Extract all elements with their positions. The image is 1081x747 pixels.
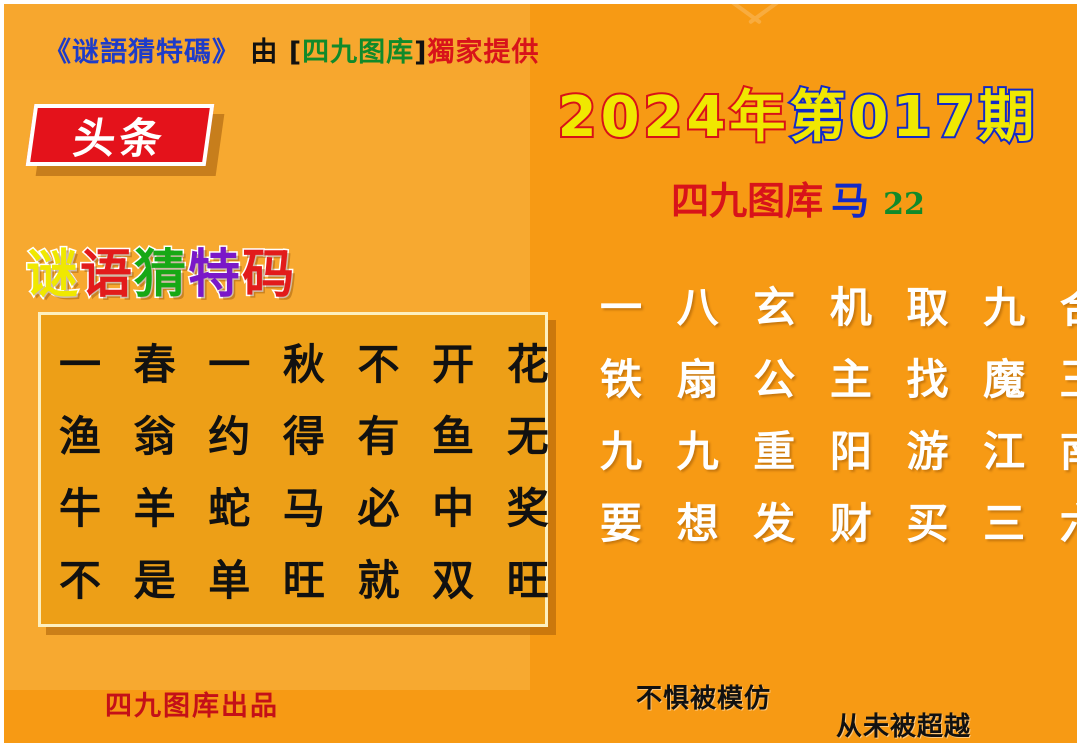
headline-badge: 头条 (30, 104, 230, 180)
background-top-right-band (530, 0, 1081, 78)
footer-right-text: 从未被超越 (836, 706, 971, 743)
issue-number: 第017期 (789, 85, 1038, 150)
watermark-icon (721, 0, 791, 28)
poster-canvas: 《谜語猜特碼》 由 [四九图库]獨家提供 头条 谜语猜特码 一 春 一 秋 不 … (0, 0, 1081, 747)
riddle-heading-char-5: 码 (242, 245, 296, 305)
issue-year: 2024年 (558, 85, 790, 150)
riddle-line: 渔 翁 约 得 有 鱼 无 (59, 401, 527, 473)
riddle-heading-char-2: 语 (80, 245, 134, 305)
header-bracket-open: [ (289, 37, 302, 68)
riddle-heading-char-1: 谜 (26, 245, 80, 305)
brand-label: 四九图库 (671, 178, 823, 223)
riddle-line: 不 是 单 旺 就 双 旺 (59, 545, 527, 617)
footer-middle-text: 不惧被模仿 (636, 678, 771, 715)
riddle-heading: 谜语猜特码 (26, 232, 296, 307)
riddle-heading-char-4: 特 (188, 245, 242, 305)
riddle-heading-char-3: 猜 (134, 245, 188, 305)
verse-line: 九 九 重 阳 游 江 南 (600, 416, 1070, 488)
verse-line: 一 八 玄 机 取 九 合 (600, 272, 1070, 344)
verse-block: 一 八 玄 机 取 九 合 铁 扇 公 主 找 魔 王 九 九 重 阳 游 江 … (600, 272, 1070, 560)
header-quote-open: 《 (44, 30, 72, 69)
header-credit-line: 《谜語猜特碼》 由 [四九图库]獨家提供 (44, 30, 540, 69)
verse-line: 要 想 发 财 买 三 六 (600, 488, 1070, 560)
header-by-text: 由 (250, 30, 278, 69)
header-exclusive: 獨家提供 (428, 30, 540, 69)
riddle-line: 牛 羊 蛇 马 必 中 奖 (59, 473, 527, 545)
brand-zodiac-row: 四九图库马22 (538, 170, 1058, 225)
issue-title: 2024年第017期 (538, 72, 1058, 153)
header-bracket-close: ] (414, 37, 427, 68)
header-quote-close: 》 (212, 30, 240, 69)
riddle-line: 一 春 一 秋 不 开 花 (59, 329, 527, 401)
verse-line: 铁 扇 公 主 找 魔 王 (600, 344, 1070, 416)
zodiac-label: 马 (831, 178, 869, 223)
riddle-box: 一 春 一 秋 不 开 花 渔 翁 约 得 有 鱼 无 牛 羊 蛇 马 必 中 … (38, 312, 548, 627)
footer-left-text: 四九图库出品 (105, 684, 279, 723)
headline-badge-label: 头条 (26, 104, 215, 166)
zodiac-number: 22 (883, 187, 925, 222)
header-title-text: 谜語猜特碼 (72, 30, 212, 69)
header-brand: 四九图库 (302, 30, 414, 69)
